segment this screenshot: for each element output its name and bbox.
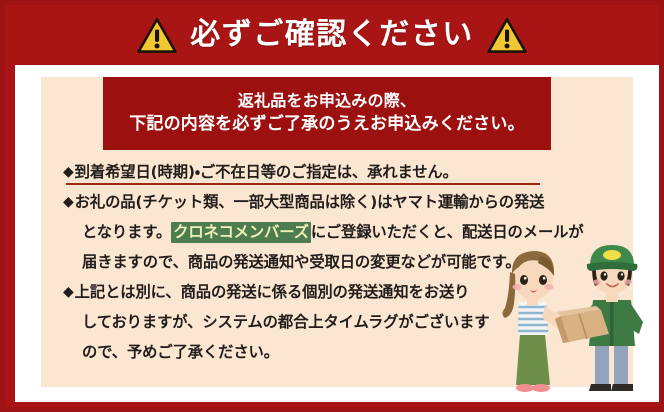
lead-banner-line-2: 下記の内容を必ずご了承のうえお申込みください。 <box>129 114 525 136</box>
bullet-2-line-2-row: となります。クロネコメンバーズにご登録いただくと、配送日のメールが <box>63 217 623 247</box>
bullet-3-line-3-row: ので、予めご了承ください。 <box>63 337 623 367</box>
bullet-2-line-3-row: 届きますので、商品の発送通知や受取日の変更などが可能です。 <box>63 247 623 277</box>
bullet-2-line-1: お礼の品(チケット類、一部大型商品は除く)はヤマト運輸からの発送 <box>75 193 545 211</box>
diamond-bullet-icon: ◆ <box>63 164 74 180</box>
notice-bullet-list: ◆到着希望日(時期)・ご不在日等のご指定は、承れません。 ◆お礼の品(チケット類… <box>63 157 623 367</box>
notice-card: 必ずご確認ください 返礼品をお申込みの際、 下記の内容を必ずご了承のうえお申込み… <box>0 0 664 412</box>
bullet-3-line-2-row: しておりますが、システムの都合上タイムラグがございます <box>63 307 623 337</box>
lead-banner-line-1: 返礼品をお申込みの際、 <box>238 91 416 111</box>
diamond-bullet-icon: ◆ <box>63 194 74 210</box>
bullet-2-line-3: 届きますので、商品の発送通知や受取日の変更などが可能です。 <box>82 253 521 271</box>
page-title: 必ずご確認ください <box>190 20 474 50</box>
bullet-2-line-2: となります。 <box>82 223 171 241</box>
kuroneko-members-highlight[interactable]: クロネコメンバーズ <box>171 222 311 243</box>
bullet-1-underline <box>66 183 540 185</box>
bullet-3-line-2: しておりますが、システムの都合上タイムラグがございます <box>82 313 490 331</box>
bullet-3-line-1: 上記とは別に、商品の発送に係る個別の発送通知をお送り <box>75 283 470 301</box>
lead-banner: 返礼品をお申込みの際、 下記の内容を必ずご了承のうえお申込みください。 <box>103 77 551 150</box>
diamond-bullet-icon: ◆ <box>63 284 74 300</box>
bullet-1-line-1: 到着希望日(時期)・ご不在日等のご指定は、承れません。 <box>75 163 458 181</box>
bullet-item-3: ◆上記とは別に、商品の発送に係る個別の発送通知をお送り <box>63 277 623 307</box>
warning-triangle-icon <box>137 17 177 54</box>
bullet-2-line-2-tail: にご登録いただくと、配送日のメールが <box>311 223 584 241</box>
notice-header: 必ずご確認ください <box>5 5 659 65</box>
bullet-3-line-3: ので、予めご了承ください。 <box>82 343 279 361</box>
bullet-item-1: ◆到着希望日(時期)・ご不在日等のご指定は、承れません。 <box>63 157 623 187</box>
bullet-item-2: ◆お礼の品(チケット類、一部大型商品は除く)はヤマト運輸からの発送 <box>63 187 623 217</box>
notice-body-card: 返礼品をお申込みの際、 下記の内容を必ずご了承のうえお申込みください。 ◆到着希… <box>15 65 659 402</box>
warning-triangle-icon <box>487 17 527 54</box>
notice-panel: 返礼品をお申込みの際、 下記の内容を必ずご了承のうえお申込みください。 ◆到着希… <box>41 77 633 387</box>
